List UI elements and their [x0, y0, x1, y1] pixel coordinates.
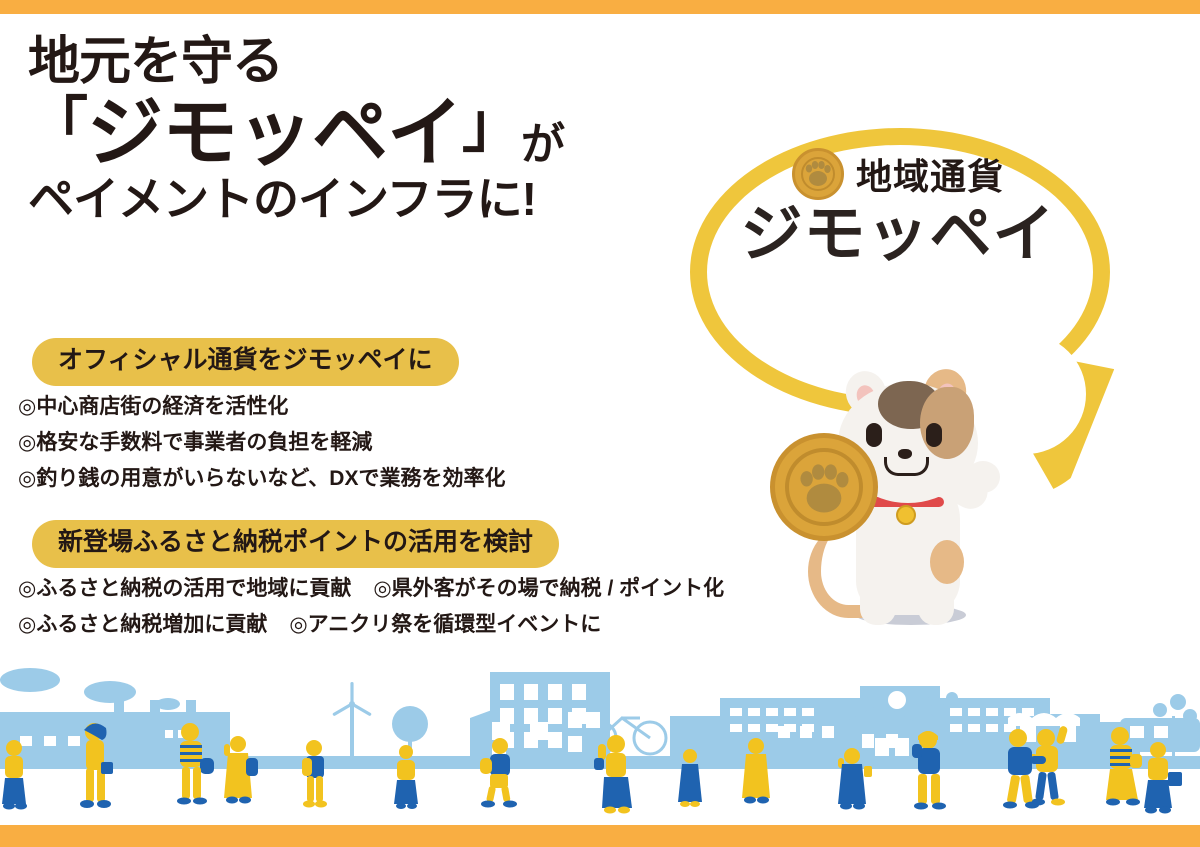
paw-print-icon [795, 459, 853, 518]
cat-right-eye [926, 423, 942, 447]
headline-line-3: ペイメントのインフラに! [28, 176, 678, 222]
headline-particle: が [521, 120, 564, 169]
list-item: ◎ふるさと納税の活用で地域に貢献◎県外客がその場で納税 / ポイント化 [18, 572, 724, 606]
bullet-list-furusato-points: ◎ふるさと納税の活用で地域に貢献◎県外客がその場で納税 / ポイント化 ◎ふるさ… [18, 572, 724, 644]
logo-subtitle-row: 地域通貨 [708, 148, 1088, 200]
top-accent-bar [0, 0, 1200, 14]
cat-body-patch [930, 540, 964, 584]
logo-title: ジモッペイ [708, 204, 1088, 266]
paw-coin-icon [792, 148, 844, 200]
cat-left-eye [866, 423, 882, 447]
headline-block: 地元を守る 「ジモッペイ」が ペイメントのインフラに! [28, 36, 678, 222]
section-badge-official-currency: オフィシャル通貨をジモッペイに [32, 338, 459, 386]
calico-cat-mascot [760, 365, 1060, 655]
list-item: ◎中心商店街の経済を活性化 [18, 390, 505, 424]
headline-brand: ジモッペイ [87, 91, 462, 176]
list-item: ◎ふるさと納税増加に貢献◎アニクリ祭を循環型イベントに [18, 608, 724, 642]
open-quote: 「 [28, 92, 87, 159]
paw-print-icon [803, 158, 833, 191]
headline-line-1: 地元を守る [28, 36, 678, 88]
cat-right-leg [918, 580, 954, 625]
headline-line-2: 「ジモッペイ」が [28, 96, 678, 172]
list-item-part: ◎ふるさと納税の活用で地域に貢献 [18, 577, 351, 600]
townscape-svg [0, 660, 1200, 825]
bottom-accent-bar [0, 825, 1200, 847]
list-item-part: ◎県外客がその場で納税 / ポイント化 [373, 577, 724, 600]
logo-subtitle: 地域通貨 [856, 148, 1004, 200]
list-item-part: ◎ふるさと納税増加に貢献 [18, 613, 267, 636]
list-item-part: ◎アニクリ祭を循環型イベントに [289, 613, 601, 636]
list-item: ◎格安な手数料で事業者の負担を軽減 [18, 426, 505, 460]
bullet-list-official-currency: ◎中心商店街の経済を活性化 ◎格安な手数料で事業者の負担を軽減 ◎釣り銭の用意が… [18, 390, 505, 498]
cat-head-patch-tan [920, 387, 974, 459]
section-badge-furusato-points: 新登場ふるさと納税ポイントの活用を検討 [32, 520, 559, 568]
held-paw-coin-icon [770, 433, 878, 541]
list-item: ◎釣り銭の用意がいらないなど、DXで業務を効率化 [18, 462, 505, 496]
poster-page: 地元を守る 「ジモッペイ」が ペイメントのインフラに! オフィシャル通貨をジモッ… [0, 0, 1200, 847]
close-quote: 」 [462, 92, 521, 159]
cat-bell-icon [896, 505, 916, 525]
logo-content: 地域通貨 ジモッペイ [708, 148, 1088, 266]
townscape-illustration [0, 660, 1200, 825]
cat-left-leg [860, 580, 896, 625]
